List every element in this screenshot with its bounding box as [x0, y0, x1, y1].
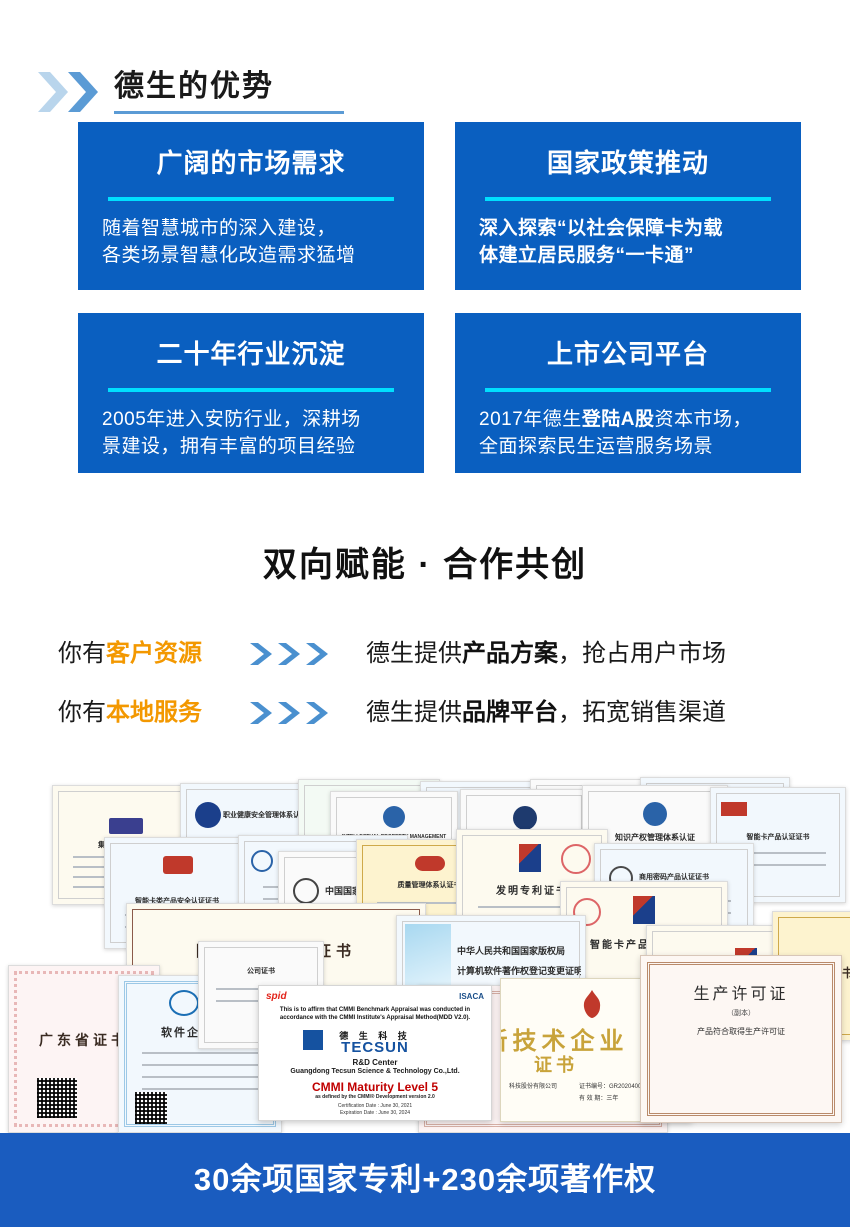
certificate-production-license[interactable]: 生产许可证 （副本） 产品符合取得生产许可证: [640, 955, 842, 1123]
triple-chevron-right-icon: [248, 640, 340, 668]
hitech-title-line-2: 证书: [500, 1051, 651, 1077]
benefit-right-bold: 品牌平台: [462, 699, 558, 726]
card-body-line-2: 各类场景智慧化改造需求猛增: [102, 242, 402, 269]
card-title: 国家政策推动: [455, 148, 801, 178]
card-divider: [485, 197, 771, 201]
benefit-right-prefix: 德生提供: [366, 640, 462, 667]
benefit-right-suffix: ，抢占用户市场: [558, 640, 726, 667]
certificate-thumb-label: 公司证书: [199, 966, 323, 976]
card-divider: [485, 388, 771, 392]
advantage-card-market-demand[interactable]: 广阔的市场需求 随着智慧城市的深入建设， 各类场景智慧化改造需求猛增: [78, 122, 424, 290]
certificate-thumb-label: 职业健康安全管理体系认证书: [223, 810, 309, 820]
banner-text: 30余项国家专利+230余项著作权: [0, 1133, 850, 1227]
benefit-left-prefix: 你有: [58, 699, 106, 726]
card-body: 2017年德生登陆A股资本市场， 全面探索民生运营服务场景: [479, 406, 779, 460]
card-title: 广阔的市场需求: [78, 148, 424, 178]
hitech-validity: 有 效 期：三年: [579, 1093, 618, 1102]
certificate-thumb-label: 计算机软件著作权登记变更证明: [457, 964, 581, 977]
advantage-card-national-policy[interactable]: 国家政策推动 深入探索“以社会保障卡为载 体建立居民服务“一卡通”: [455, 122, 801, 290]
benefit-left-text: 你有本地服务: [58, 693, 258, 733]
advantage-card-listed-company[interactable]: 上市公司平台 2017年德生登陆A股资本市场， 全面探索民生运营服务场景: [455, 313, 801, 473]
benefit-left-prefix: 你有: [58, 640, 106, 667]
cmmi-dates: Certification Date : June 30, 2021 Expir…: [259, 1103, 491, 1117]
license-title: 生产许可证: [641, 980, 841, 1004]
hitech-company: 科技股份有限公司: [509, 1081, 557, 1090]
card-body: 2005年进入安防行业，深耕场 景建设，拥有丰富的项目经验: [102, 406, 402, 460]
card-body: 随着智慧城市的深入建设， 各类场景智慧化改造需求猛增: [102, 215, 402, 269]
title-underline: [114, 111, 344, 114]
card-body-text-c: 资本市场，: [655, 409, 753, 430]
card-divider: [108, 388, 394, 392]
advantage-card-twenty-years[interactable]: 二十年行业沉淀 2005年进入安防行业，深耕场 景建设，拥有丰富的项目经验: [78, 313, 424, 473]
page-title: 德生的优势: [114, 68, 274, 106]
card-body-emphasis: 登陆A股: [582, 409, 655, 430]
cmmi-brand-en: TECSUN: [259, 1039, 491, 1056]
benefit-row-local-service: 你有本地服务 德生提供品牌平台，拓宽销售渠道: [0, 693, 850, 733]
benefit-right-suffix: ，拓宽销售渠道: [558, 699, 726, 726]
card-title: 二十年行业沉淀: [78, 339, 424, 369]
triple-chevron-right-icon: [248, 699, 340, 727]
spid-logo-icon: spid: [266, 991, 287, 1002]
cmmi-cert-date: Certification Date : June 30, 2021: [259, 1103, 491, 1110]
cmmi-level: CMMI Maturity Level 5: [259, 1080, 491, 1094]
certificate-thumb-label: 中华人民共和国国家版权局: [457, 944, 581, 957]
flame-icon: [579, 989, 605, 1019]
card-body-line-2: 体建立居民服务“一卡通”: [479, 242, 779, 269]
cmmi-unit: R&D Center: [259, 1058, 491, 1067]
benefit-right-prefix: 德生提供: [366, 699, 462, 726]
card-body-line-1: 随着智慧城市的深入建设，: [102, 215, 402, 242]
card-body-line-1: 深入探索“以社会保障卡为载: [479, 215, 779, 242]
card-body: 深入探索“以社会保障卡为载 体建立居民服务“一卡通”: [479, 215, 779, 269]
benefit-right-text: 德生提供产品方案，抢占用户市场: [366, 634, 726, 674]
bottom-banner: 30余项国家专利+230余项著作权: [0, 1133, 850, 1227]
advantage-card-grid: 广阔的市场需求 随着智慧城市的深入建设， 各类场景智慧化改造需求猛增 国家政策推…: [0, 122, 850, 475]
section-header: 德生的优势: [0, 28, 850, 90]
license-note: 产品符合取得生产许可证: [641, 1026, 841, 1037]
cmmi-statement: This is to affirm that CMMI Benchmark Ap…: [267, 1006, 483, 1022]
benefit-row-customer-resource: 你有客户资源 德生提供产品方案，抢占用户市场: [0, 634, 850, 674]
cmmi-exp-date: Expiration Date : June 30, 2024: [259, 1110, 491, 1117]
benefit-right-text: 德生提供品牌平台，拓宽销售渠道: [366, 693, 726, 733]
section-headline-cooperation: 双向赋能 · 合作共创: [0, 543, 850, 587]
double-chevron-right-icon: [36, 70, 104, 114]
cmmi-company: Guangdong Tecsun Science & Technology Co…: [259, 1068, 491, 1075]
card-divider: [108, 197, 394, 201]
benefit-right-bold: 产品方案: [462, 640, 558, 667]
card-body-line-1: 2017年德生登陆A股资本市场，: [479, 406, 779, 433]
card-body-text-a: 2017年德生: [479, 409, 582, 430]
card-body-line-2: 景建设，拥有丰富的项目经验: [102, 433, 402, 460]
isaca-logo-icon: ISACA: [459, 992, 484, 1001]
certificate-cmmi[interactable]: spid ISACA This is to affirm that CMMI B…: [258, 985, 492, 1121]
benefit-left-highlight: 本地服务: [106, 699, 202, 726]
card-body-line-2: 全面探索民生运营服务场景: [479, 433, 779, 460]
certificate-thumb-label: 智能卡产品认证证书: [711, 832, 845, 842]
benefit-left-highlight: 客户资源: [106, 640, 202, 667]
cmmi-defined-by: as defined by the CMMI® Development vers…: [259, 1094, 491, 1100]
license-sub: （副本）: [641, 1008, 841, 1018]
card-body-line-1: 2005年进入安防行业，深耕场: [102, 406, 402, 433]
card-title: 上市公司平台: [455, 339, 801, 369]
benefit-left-text: 你有客户资源: [58, 634, 258, 674]
